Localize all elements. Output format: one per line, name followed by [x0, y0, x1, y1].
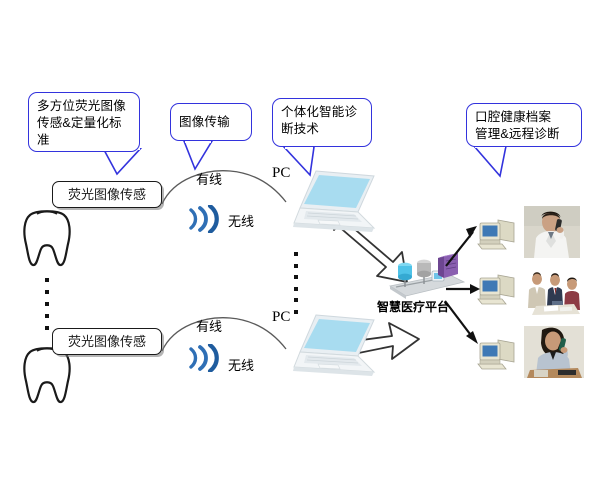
laptop-icon-top: [288, 168, 380, 240]
endpoint-photo-receptionist-phone: [524, 326, 584, 378]
endpoint-photo-doctor-phone: [524, 206, 580, 258]
arrow-platform-to-endpoint-1: [444, 222, 484, 268]
wired-link-line-bottom: [160, 315, 290, 357]
dotted-connector-left: [44, 278, 49, 330]
tooth-icon-top: [20, 208, 74, 270]
diagram-canvas: 多方位荧光图像 传感&定量化标 准 图像传输 个体化智能诊 断技术 口腔健康档案…: [0, 0, 600, 500]
wireless-label-top: 无线: [228, 214, 254, 229]
callout-tail-multi-angle: [95, 148, 155, 176]
pc-label-bottom: PC: [272, 310, 290, 325]
wired-label-bottom: 有线: [196, 319, 222, 334]
wireless-icon-top: [186, 205, 222, 233]
platform-label: 智慧医疗平台: [377, 300, 449, 315]
wired-link-line-top: [160, 168, 290, 210]
wireless-icon-bottom: [186, 344, 222, 372]
sensor-box-top[interactable]: 荧光图像传感: [52, 181, 162, 208]
sensor-box-bottom[interactable]: 荧光图像传感: [52, 328, 162, 355]
callout-health-record[interactable]: 口腔健康档案 管理&远程诊断: [466, 103, 582, 147]
arrow-platform-to-endpoint-2: [444, 282, 484, 296]
callout-multi-angle-sensing[interactable]: 多方位荧光图像 传感&定量化标 准: [28, 92, 140, 152]
pc-label-top: PC: [272, 166, 290, 181]
wired-label-top: 有线: [196, 172, 222, 187]
dotted-connector-middle: [293, 252, 298, 314]
laptop-icon-bottom: [288, 312, 380, 384]
endpoint-photo-team-meeting: [522, 268, 584, 316]
callout-tail-image-transmission: [178, 141, 228, 171]
callout-image-transmission[interactable]: 图像传输: [170, 103, 252, 141]
wireless-label-bottom: 无线: [228, 358, 254, 373]
callout-tail-health-record: [470, 146, 530, 178]
callout-intelligent-diagnosis[interactable]: 个体化智能诊 断技术: [272, 98, 372, 147]
